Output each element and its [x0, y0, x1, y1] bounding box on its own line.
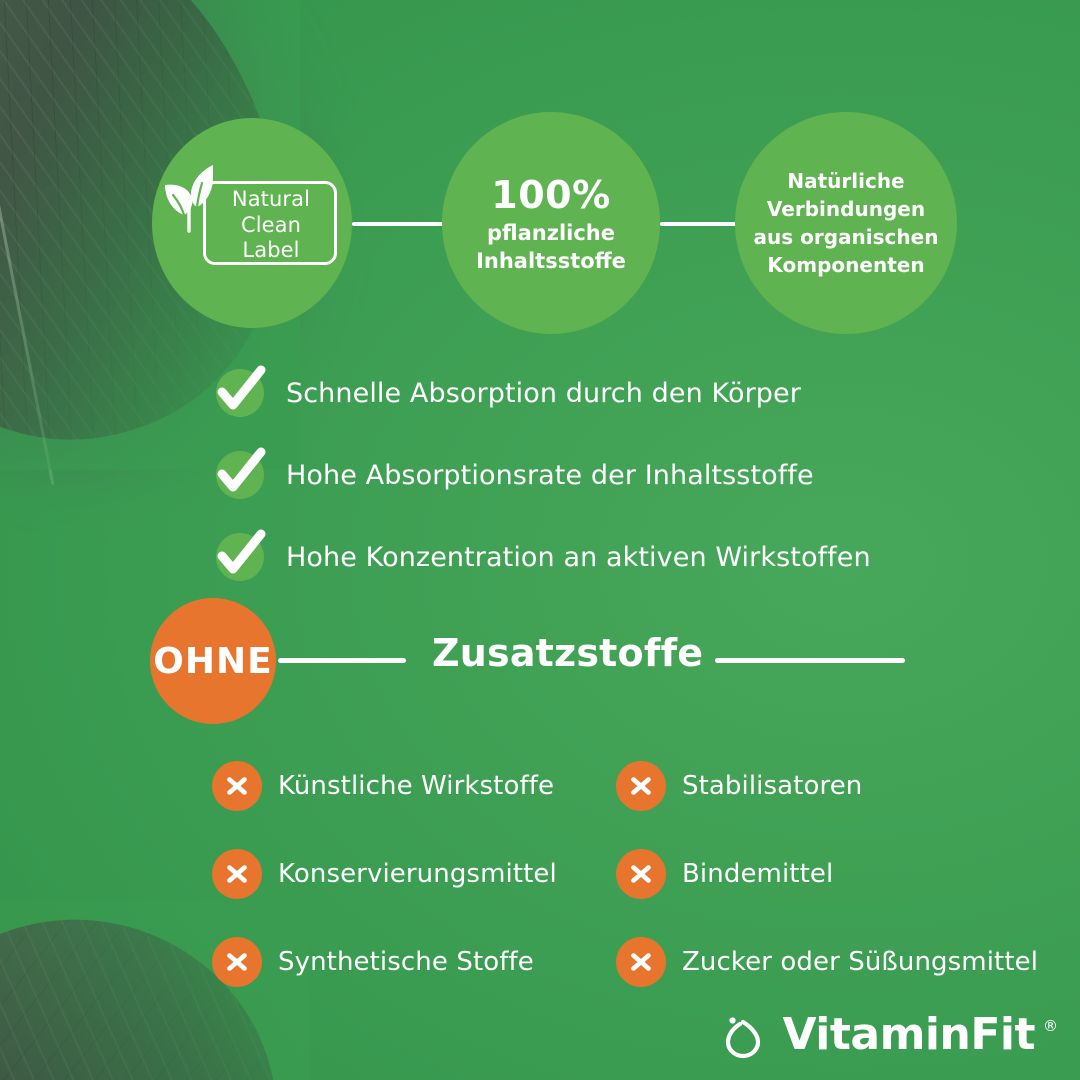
- check-icon: [212, 363, 268, 419]
- ohne-badge: OHNE: [150, 598, 276, 724]
- badge-organic-compounds: Natürliche Verbindungen aus organischen …: [735, 112, 957, 334]
- badge-connector-2: [660, 222, 738, 226]
- excluded-item: Synthetische Stoffe: [212, 937, 616, 987]
- excluded-item: Künstliche Wirkstoffe: [212, 761, 616, 811]
- excluded-item: Zucker oder Süßungsmittel: [616, 937, 1076, 987]
- clean-label-line-1: Natural: [209, 187, 333, 213]
- benefit-row: Hohe Konzentration an aktiven Wirkstoffe…: [212, 516, 1072, 598]
- badge-connector-1: [352, 222, 444, 226]
- excluded-ingredients-grid: Künstliche Wirkstoffe Stabilisatoren Ko: [212, 742, 1080, 1006]
- x-badge: [212, 849, 262, 899]
- excluded-row: Künstliche Wirkstoffe Stabilisatoren: [212, 742, 1080, 830]
- excluded-label: Synthetische Stoffe: [278, 947, 534, 977]
- percent-line-1: pflanzliche: [476, 219, 626, 247]
- clean-label-text: Natural Clean Label: [209, 187, 333, 264]
- excluded-item: Konservierungsmittel: [212, 849, 616, 899]
- x-icon: [223, 860, 251, 888]
- benefit-row: Schnelle Absorption durch den Körper: [212, 352, 1072, 434]
- x-badge: [616, 849, 666, 899]
- check-badge: [212, 529, 268, 585]
- registered-mark: ®: [1043, 1017, 1058, 1035]
- excluded-item: Stabilisatoren: [616, 761, 1076, 811]
- x-badge: [212, 761, 262, 811]
- percent-headline: 100%: [476, 171, 626, 220]
- without-additives-header: OHNE Zusatzstoffe: [150, 598, 1050, 726]
- x-icon: [627, 860, 655, 888]
- content-layer: Natural Clean Label 100% pflanzliche Inh…: [0, 0, 1080, 1080]
- ohne-badge-label: OHNE: [153, 641, 272, 682]
- badge-plant-based: 100% pflanzliche Inhaltsstoffe: [442, 112, 660, 334]
- benefit-row: Hohe Absorptionsrate der Inhaltsstoffe: [212, 434, 1072, 516]
- clean-label-line-2: Clean Label: [209, 213, 333, 264]
- excluded-label: Zucker oder Süßungsmittel: [682, 947, 1038, 977]
- excluded-item: Bindemittel: [616, 849, 1076, 899]
- check-icon: [212, 527, 268, 583]
- x-icon: [627, 948, 655, 976]
- excluded-label: Stabilisatoren: [682, 771, 862, 801]
- check-icon: [212, 445, 268, 501]
- organic-line-1: Natürliche: [746, 167, 947, 195]
- benefits-list: Schnelle Absorption durch den Körper Hoh…: [212, 352, 1072, 598]
- droplet-outline-icon: [718, 1010, 768, 1060]
- ohne-rule-right: [715, 658, 905, 663]
- ohne-rule-left: [278, 658, 406, 663]
- benefit-label: Hohe Absorptionsrate der Inhaltsstoffe: [286, 460, 814, 491]
- x-icon: [223, 948, 251, 976]
- brand-logo: VitaminFit ®: [718, 1009, 1058, 1060]
- excluded-label: Konservierungsmittel: [278, 859, 557, 889]
- benefit-label: Schnelle Absorption durch den Körper: [286, 378, 801, 409]
- brand-name: VitaminFit: [782, 1009, 1035, 1060]
- x-badge: [212, 937, 262, 987]
- organic-line-3: aus organischen: [746, 223, 947, 251]
- organic-line-2: Verbindungen: [746, 195, 947, 223]
- x-icon: [223, 772, 251, 800]
- x-badge: [616, 761, 666, 811]
- excluded-row: Synthetische Stoffe Zucker oder Süßungsm…: [212, 918, 1080, 1006]
- excluded-label: Bindemittel: [682, 859, 833, 889]
- check-badge: [212, 365, 268, 421]
- badge-natural-clean-label: Natural Clean Label: [152, 118, 352, 328]
- ohne-title: Zusatzstoffe: [432, 631, 692, 675]
- organic-line-4: Komponenten: [746, 251, 947, 279]
- check-badge: [212, 447, 268, 503]
- x-badge: [616, 937, 666, 987]
- percent-line-2: Inhaltsstoffe: [476, 247, 626, 275]
- excluded-label: Künstliche Wirkstoffe: [278, 771, 554, 801]
- x-icon: [627, 772, 655, 800]
- benefit-label: Hohe Konzentration an aktiven Wirkstoffe…: [286, 542, 871, 573]
- feature-badges-row: Natural Clean Label 100% pflanzliche Inh…: [0, 0, 1080, 350]
- excluded-row: Konservierungsmittel Bindemittel: [212, 830, 1080, 918]
